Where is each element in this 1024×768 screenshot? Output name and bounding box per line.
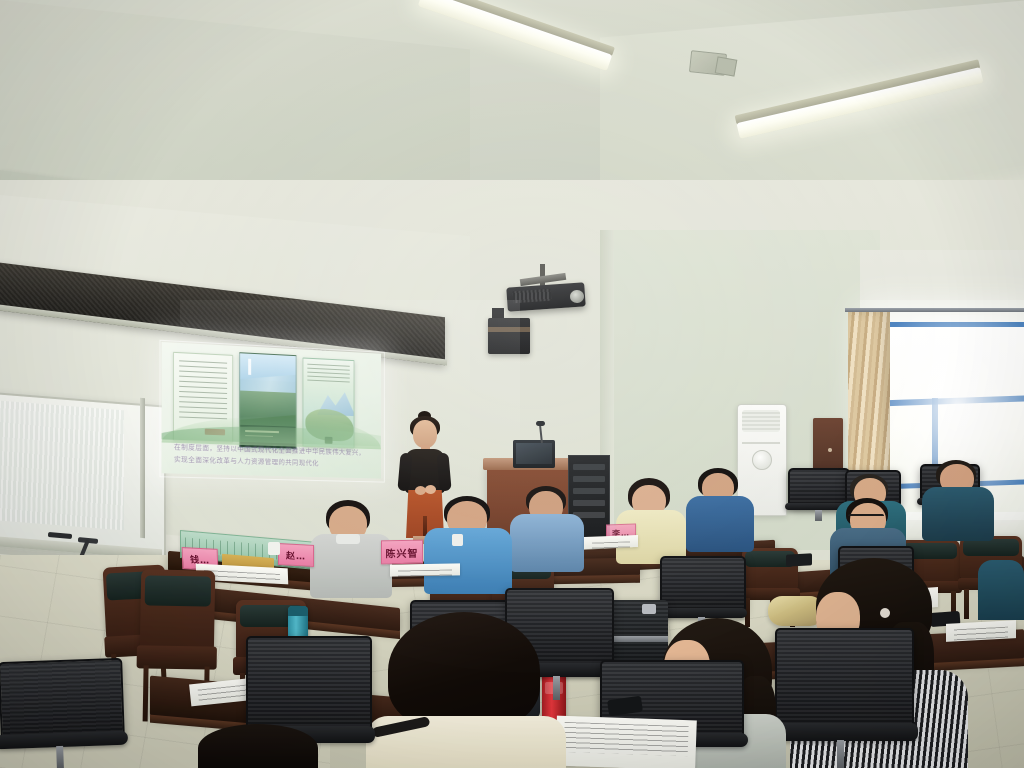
name-placard: 陈兴智 [381,540,423,565]
attendee-navy-blazer [686,468,756,548]
name-placard: 赵… [278,543,314,567]
ac-dial-icon[interactable] [752,450,772,470]
attendee-light-blue [508,486,586,570]
paper-handout [390,563,460,576]
office-chair[interactable] [775,628,910,768]
wall-speaker [488,318,530,354]
attendee-right-edge [978,560,1024,620]
paper-cup [452,534,463,546]
classroom-photo: 在制度层面，坚持以中国式现代化全面推进中华民族伟大复兴，实现全面深化改革与人力资… [0,0,1024,768]
slide-content: 在制度层面，坚持以中国式现代化全面推进中华民族伟大复兴，实现全面深化改革与人力资… [162,342,381,479]
whiteboard-hinge [140,398,145,538]
speaker-trim [488,327,530,332]
presenter-hand [425,485,436,494]
ac-grill-icon [742,410,780,432]
ac-seam [742,442,780,444]
attendee-cream-jacket [366,612,566,768]
microphone-icon[interactable] [536,421,545,426]
attendee-dark-polo [922,460,996,538]
case-latch-icon[interactable] [642,604,656,614]
paper-handout [555,716,697,768]
slide-caption: 在制度层面，坚持以中国式现代化全面推进中华民族伟大复兴，实现全面深化改革与人力资… [174,441,370,473]
paper-handout [584,535,638,549]
attendee-blue-shirt [424,496,512,592]
presenter-head [413,420,437,448]
attendee-foreground-partial [198,724,318,768]
office-chair[interactable] [0,658,122,768]
window-frame-bar [878,322,1024,327]
paper-cup [268,542,280,555]
podium-monitor-screen [516,443,552,464]
presenter-arm [436,453,451,492]
rear-cabinet-knob-icon [828,448,832,452]
ceiling-vent-icon [715,56,738,76]
projection-screen: 在制度层面，坚持以中国式现代化全面推进中华民族伟大复兴，实现全面深化改革与人力资… [162,342,381,479]
